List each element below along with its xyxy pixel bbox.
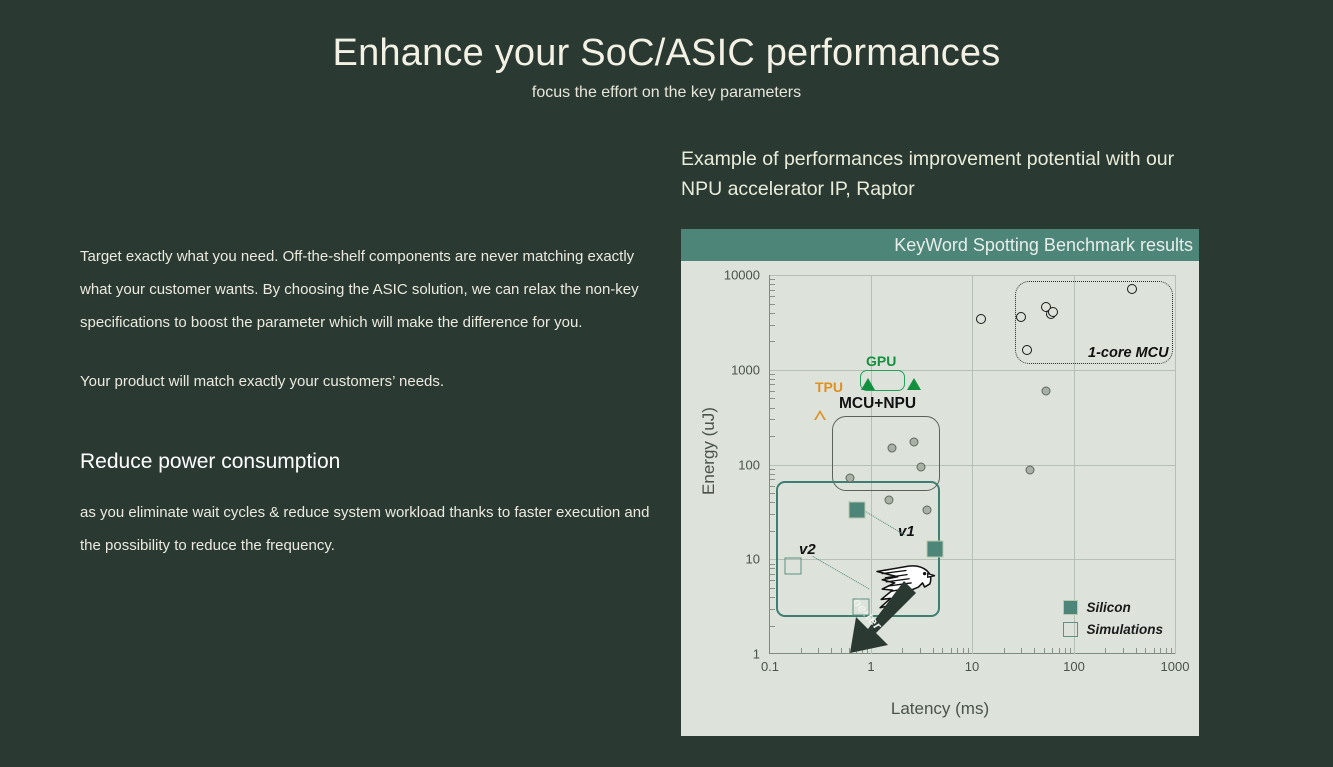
y-minor-tick — [770, 313, 775, 314]
y-minor-tick — [770, 514, 775, 515]
section-heading-reduce-power: Reduce power consumption — [80, 450, 665, 474]
y-minor-tick — [770, 588, 775, 589]
x-minor-tick — [1160, 648, 1161, 653]
x-minor-tick — [1052, 648, 1053, 653]
data-point-raptor-silicon — [926, 540, 943, 557]
data-point-1-core-mcu — [1048, 307, 1058, 317]
x-minor-tick — [1136, 648, 1137, 653]
x-minor-tick — [1171, 648, 1172, 653]
paragraph-wait-cycles: as you eliminate wait cycles & reduce sy… — [80, 496, 665, 562]
cluster-label-mcu-npu: MCU+NPU — [839, 395, 916, 413]
data-point-mcu-npu — [1041, 386, 1050, 395]
legend-swatch-simulations — [1063, 622, 1078, 637]
data-point-mcu-npu — [922, 506, 931, 515]
x-minor-tick — [1004, 648, 1005, 653]
cluster-label-1-core-mcu: 1-core MCU — [1088, 345, 1169, 361]
x-minor-tick — [1034, 648, 1035, 653]
y-minor-tick — [770, 398, 775, 399]
x-minor-tick — [1059, 648, 1060, 653]
x-minor-tick — [1105, 648, 1106, 653]
x-minor-tick — [1070, 648, 1071, 653]
cluster-label-tpu: TPU — [815, 379, 843, 395]
data-point-1-core-mcu — [1016, 312, 1026, 322]
y-tick-4: 10000 — [724, 268, 760, 283]
chart-intro-heading: Example of performances improvement pote… — [681, 144, 1211, 204]
x-minor-tick — [801, 648, 802, 653]
data-point-gpu — [861, 378, 875, 390]
x-minor-tick — [933, 648, 934, 653]
legend-label-silicon: Silicon — [1086, 600, 1130, 615]
data-point-raptor-simulations — [852, 599, 869, 616]
x-tick-4: 1000 — [1161, 659, 1190, 674]
y-minor-tick — [770, 284, 775, 285]
x-axis-label: Latency (ms) — [681, 699, 1199, 719]
y-minor-tick — [770, 325, 775, 326]
data-point-mcu-npu — [1025, 465, 1034, 474]
y-tick-2: 100 — [738, 457, 760, 472]
y-minor-tick — [770, 531, 775, 532]
data-point-mcu-npu — [885, 496, 894, 505]
x-minor-tick — [968, 648, 969, 653]
x-minor-tick — [1166, 648, 1167, 653]
data-point-1-core-mcu — [976, 314, 986, 324]
y-minor-tick — [770, 374, 775, 375]
x-minor-tick — [841, 648, 842, 653]
legend-label-simulations: Simulations — [1086, 622, 1163, 637]
y-minor-tick — [770, 609, 775, 610]
left-text-column: Target exactly what you need. Off-the-sh… — [80, 240, 665, 562]
x-minor-tick — [1021, 648, 1022, 653]
y-minor-tick — [770, 486, 775, 487]
data-point-gpu — [907, 378, 921, 390]
y-minor-tick — [770, 419, 775, 420]
x-minor-tick — [818, 648, 819, 653]
gridline-y-10000 — [770, 275, 1176, 276]
x-minor-tick — [942, 648, 943, 653]
y-minor-tick — [770, 341, 775, 342]
plot-area: 0.1 1 10 100 1000 1 10 100 1000 10000 1-… — [769, 275, 1175, 654]
x-minor-tick — [957, 648, 958, 653]
x-minor-tick — [963, 648, 964, 653]
page-title: Enhance your SoC/ASIC performances — [0, 32, 1333, 75]
data-point-raptor-simulations — [785, 557, 802, 574]
y-minor-tick — [770, 493, 775, 494]
y-tick-1: 10 — [746, 552, 760, 567]
paragraph-target: Target exactly what you need. Off-the-sh… — [80, 240, 665, 339]
paragraph-product-match: Your product will match exactly your cus… — [80, 365, 665, 398]
data-point-mcu-npu — [846, 474, 855, 483]
y-minor-tick — [770, 564, 775, 565]
better-direction-arrow: better — [844, 577, 920, 657]
y-minor-tick — [770, 384, 775, 385]
gridline-y-1000 — [770, 370, 1176, 371]
data-point-raptor-silicon — [849, 502, 866, 519]
y-minor-tick — [770, 502, 775, 503]
x-minor-tick — [920, 648, 921, 653]
y-minor-tick — [770, 290, 775, 291]
chart-title: KeyWord Spotting Benchmark results — [681, 229, 1199, 261]
x-minor-tick — [1145, 648, 1146, 653]
benchmark-chart-card: KeyWord Spotting Benchmark results Energ… — [681, 229, 1199, 736]
paragraph-spacer — [80, 339, 665, 365]
page-subtitle: focus the effort on the key parameters — [0, 84, 1333, 102]
y-minor-tick — [770, 580, 775, 581]
x-minor-tick — [1123, 648, 1124, 653]
y-minor-tick — [770, 296, 775, 297]
y-axis-label: Energy (uJ) — [699, 371, 719, 531]
y-minor-tick — [770, 474, 775, 475]
x-minor-tick — [1154, 648, 1155, 653]
y-minor-tick — [770, 574, 775, 575]
y-minor-tick — [770, 436, 775, 437]
x-minor-tick — [831, 648, 832, 653]
y-minor-tick — [770, 479, 775, 480]
y-minor-tick — [770, 568, 775, 569]
y-minor-tick — [770, 408, 775, 409]
gridline-y-100 — [770, 465, 1176, 466]
chart-body: Energy (uJ) Latency (ms) 0.1 1 10 100 — [681, 261, 1199, 736]
y-minor-tick — [770, 279, 775, 280]
legend-item-simulations: Simulations — [1063, 622, 1163, 637]
data-point-mcu-npu — [917, 462, 926, 471]
x-minor-tick — [951, 648, 952, 653]
data-point-mcu-npu — [909, 437, 918, 446]
x-minor-tick — [1044, 648, 1045, 653]
data-point-1-core-mcu — [1022, 345, 1032, 355]
data-point-tpu — [814, 410, 826, 420]
y-tick-3: 1000 — [731, 362, 760, 377]
y-minor-tick — [770, 391, 775, 392]
legend-item-silicon: Silicon — [1063, 600, 1163, 615]
y-minor-tick — [770, 379, 775, 380]
x-tick-0: 0.1 — [761, 659, 779, 674]
x-tick-1: 1 — [867, 659, 874, 674]
x-minor-tick — [1065, 648, 1066, 653]
y-tick-0: 1 — [753, 647, 760, 662]
y-minor-tick — [770, 597, 775, 598]
slide-root: Enhance your SoC/ASIC performances focus… — [0, 0, 1333, 767]
y-minor-tick — [770, 469, 775, 470]
x-tick-2: 10 — [965, 659, 979, 674]
x-tick-3: 100 — [1063, 659, 1085, 674]
y-minor-tick — [770, 626, 775, 627]
data-point-1-core-mcu — [1127, 284, 1137, 294]
chart-legend: Silicon Simulations — [1063, 600, 1163, 637]
legend-swatch-silicon — [1063, 600, 1078, 615]
data-point-mcu-npu — [888, 443, 897, 452]
cluster-label-gpu: GPU — [866, 353, 896, 369]
y-minor-tick — [770, 304, 775, 305]
